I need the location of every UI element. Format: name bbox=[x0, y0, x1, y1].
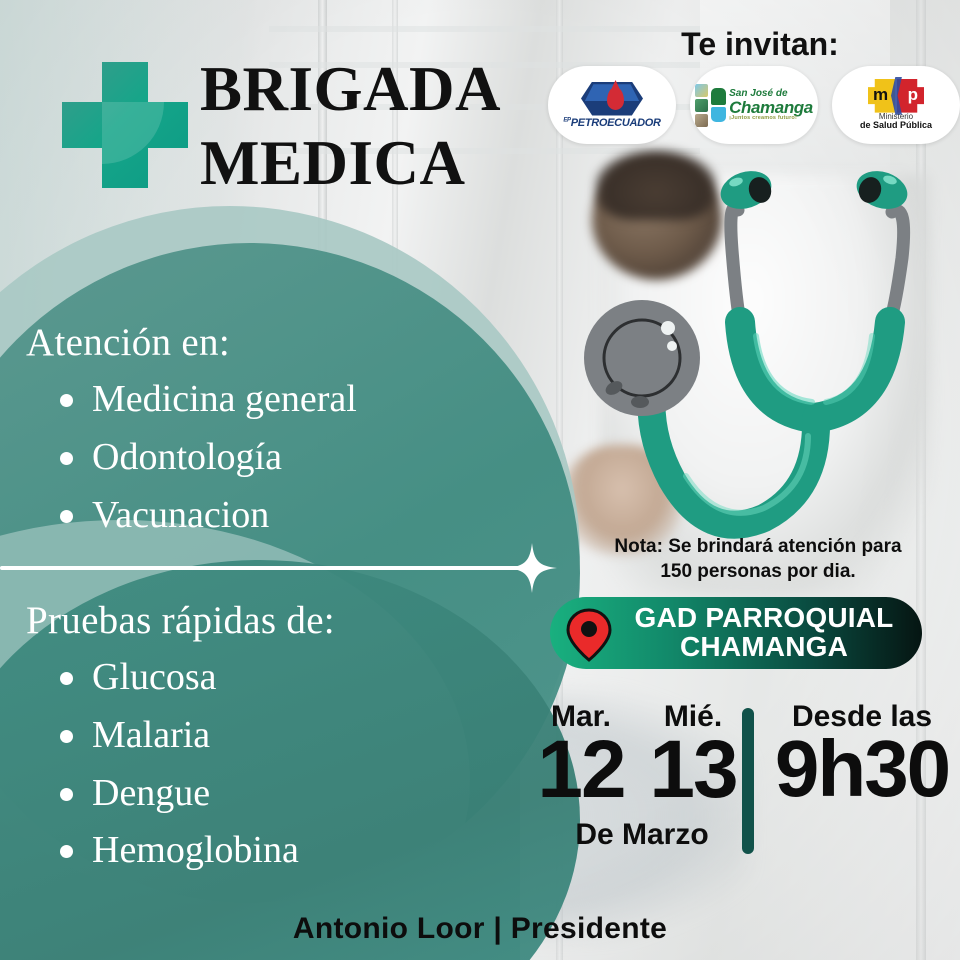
section-divider bbox=[0, 566, 520, 570]
tests-section: Pruebas rápidas de: Glucosa Malaria Deng… bbox=[26, 598, 335, 880]
chamanga-photo-tiles bbox=[695, 84, 708, 127]
list-item: Odontología bbox=[92, 429, 357, 487]
stethoscope-earpiece-left bbox=[716, 165, 777, 215]
chamanga-blue-block bbox=[711, 107, 726, 122]
chamanga-line-2: Chamanga bbox=[729, 99, 813, 116]
location-line-2: CHAMANGA bbox=[614, 633, 914, 662]
month-label: De Marzo bbox=[536, 818, 748, 852]
list-item: Hemoglobina bbox=[92, 822, 335, 880]
petroecuador-prefix: EP bbox=[563, 117, 570, 123]
location-name: GAD PARROQUIAL CHAMANGA bbox=[614, 604, 914, 661]
chamanga-blocks bbox=[711, 88, 726, 122]
page-title: BRIGADA MEDICA bbox=[200, 52, 560, 201]
location-line-1: GAD PARROQUIAL bbox=[614, 604, 914, 633]
map-pin-icon bbox=[564, 607, 614, 663]
chamanga-wordmark: San José de Chamanga ¡Juntos creamos fut… bbox=[729, 89, 813, 122]
sparkle-icon bbox=[505, 541, 559, 595]
date-second: Mié. 13 bbox=[638, 702, 748, 807]
sponsor-logo-row: EPPETROECUADOR San José de Chamanga ¡Jun… bbox=[548, 66, 960, 144]
date-second-number: 13 bbox=[638, 732, 748, 807]
chamanga-green-block bbox=[711, 88, 726, 105]
date-first: Mar. 12 bbox=[526, 702, 636, 807]
time-block: Desde las 9h30 bbox=[764, 702, 960, 806]
poster-canvas: BRIGADA MEDICA Te invitan: EPPETROECUADO… bbox=[0, 0, 960, 960]
time-value: 9h30 bbox=[764, 732, 960, 806]
stethoscope-chestpiece bbox=[584, 300, 700, 416]
list-item: Medicina general bbox=[92, 371, 357, 429]
cross-sheen bbox=[102, 102, 164, 164]
location-badge[interactable]: GAD PARROQUIAL CHAMANGA bbox=[550, 597, 922, 669]
msp-mark-icon: m p bbox=[868, 79, 924, 113]
invite-label: Te invitan: bbox=[560, 26, 960, 63]
schedule-separator bbox=[742, 708, 754, 854]
schedule-block: Mar. 12 Mié. 13 De Marzo Desde las 9h30 bbox=[512, 698, 960, 860]
list-item: Dengue bbox=[92, 765, 335, 823]
title-line-1: BRIGADA bbox=[200, 52, 560, 126]
petroecuador-flame-icon bbox=[607, 87, 624, 110]
services-heading: Atención en: bbox=[26, 320, 357, 365]
note-line-2: 150 personas por dia. bbox=[560, 559, 956, 584]
chamanga-tile bbox=[695, 114, 708, 127]
capacity-note: Nota: Se brindará atención para 150 pers… bbox=[560, 534, 956, 584]
medical-cross-icon bbox=[62, 62, 188, 188]
chamanga-tagline: ¡Juntos creamos futuro! bbox=[729, 116, 813, 122]
list-item: Vacunacion bbox=[92, 487, 357, 545]
services-list: Medicina general Odontología Vacunacion bbox=[26, 371, 357, 544]
chamanga-tile bbox=[695, 84, 708, 97]
chamanga-tile bbox=[695, 99, 708, 112]
logo-ministerio-salud-publica: m p Ministerio de Salud Pública bbox=[832, 66, 960, 144]
msp-letter-p: p bbox=[908, 86, 918, 103]
services-section: Atención en: Medicina general Odontologí… bbox=[26, 320, 357, 544]
logo-chamanga: San José de Chamanga ¡Juntos creamos fut… bbox=[690, 66, 818, 144]
petroecuador-mark-icon bbox=[581, 82, 643, 116]
stethoscope-illustration bbox=[560, 150, 960, 560]
tests-heading: Pruebas rápidas de: bbox=[26, 598, 335, 643]
footer-signature: Antonio Loor | Presidente bbox=[0, 912, 960, 946]
petroecuador-wordmark: EPPETROECUADOR bbox=[563, 117, 660, 129]
msp-line-2: de Salud Pública bbox=[860, 121, 932, 131]
list-item: Glucosa bbox=[92, 649, 335, 707]
logo-petroecuador: EPPETROECUADOR bbox=[548, 66, 676, 144]
chamanga-lockup: San José de Chamanga ¡Juntos creamos fut… bbox=[695, 84, 813, 127]
tests-list: Glucosa Malaria Dengue Hemoglobina bbox=[26, 649, 335, 880]
date-first-number: 12 bbox=[526, 732, 636, 807]
note-line-1: Nota: Se brindará atención para bbox=[560, 534, 956, 559]
petroecuador-name: PETROECUADOR bbox=[571, 117, 661, 129]
list-item: Malaria bbox=[92, 707, 335, 765]
title-line-2: MEDICA bbox=[200, 126, 560, 200]
msp-letter-m: m bbox=[873, 86, 888, 103]
